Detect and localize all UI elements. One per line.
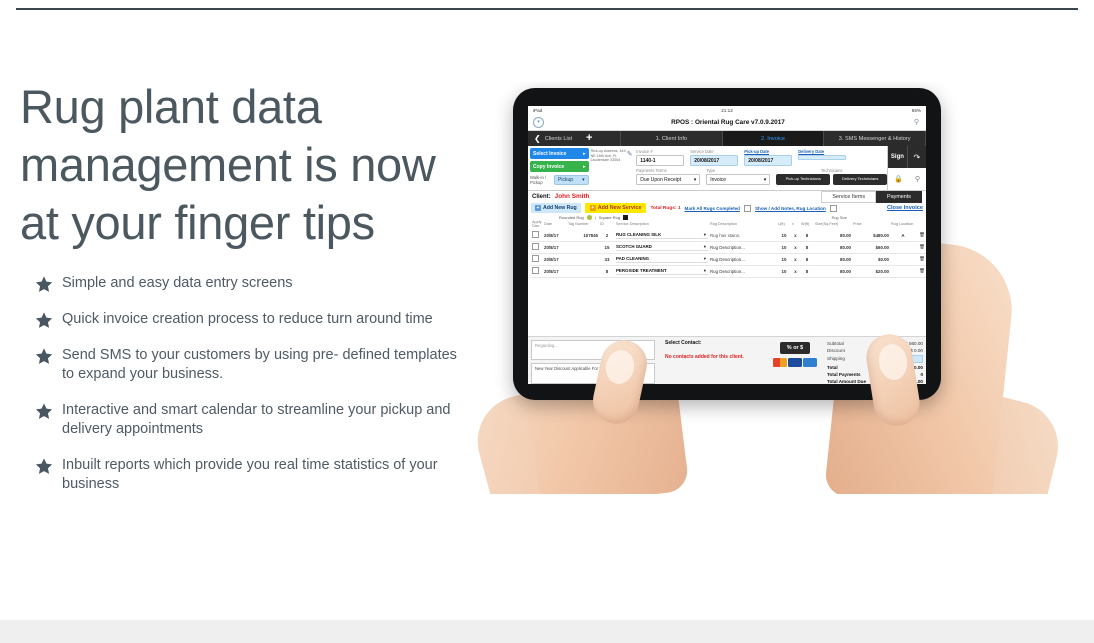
feature-text: Simple and easy data entry screens bbox=[62, 275, 293, 291]
row-service: SCOTCH GUARD bbox=[616, 244, 652, 250]
select-invoice-label: Select Invoice bbox=[533, 151, 566, 157]
row-service-select[interactable]: PAD CLEANING▾ bbox=[615, 253, 709, 265]
row-width[interactable]: 8 bbox=[800, 241, 814, 253]
export-icon[interactable]: ↷ bbox=[907, 146, 926, 168]
pickup-date-input[interactable]: 20/08/2017 bbox=[744, 155, 792, 166]
plus-icon[interactable]: + bbox=[586, 134, 592, 143]
items-table-head: Apply Disc. Date Tag Number ID Service D… bbox=[531, 220, 926, 230]
mark-all-completed-link[interactable]: Mark All Rugs Completed bbox=[685, 206, 740, 211]
tablet-photo: iPad 21:12 65% ▾ RPOS : Oriental Rug Car… bbox=[385, 82, 1085, 494]
row-service: PEROXIDE TREATMENT bbox=[616, 268, 667, 274]
delete-icon[interactable]: 🗑 bbox=[916, 265, 926, 277]
square-rug-icon[interactable] bbox=[623, 215, 628, 220]
chevron-down-icon: ▾ bbox=[764, 177, 767, 183]
invoice-number-field: Invoice # 1140-1 bbox=[636, 149, 684, 166]
client-label: Client: bbox=[532, 194, 551, 200]
chevron-down-icon: ▾ bbox=[704, 268, 706, 274]
th-length: L(ft) bbox=[777, 220, 791, 230]
total-payments-value: 0 bbox=[920, 372, 923, 377]
row-location[interactable] bbox=[890, 253, 916, 265]
row-tag bbox=[567, 265, 599, 277]
item-tabs: Service Items Payments bbox=[821, 191, 922, 203]
chevron-down-icon: ▾ bbox=[582, 177, 585, 183]
row-size: 80.00 bbox=[814, 241, 852, 253]
th-size: Size(Sq.Feet) bbox=[814, 220, 852, 230]
sign-export-column: Sign ↷ 🔒 ⚲ bbox=[887, 146, 926, 190]
type-value: Invoice bbox=[710, 177, 726, 183]
walkin-value: Pickup bbox=[558, 177, 573, 183]
row-length[interactable]: 10 bbox=[777, 241, 791, 253]
table-row[interactable]: 20/8/17 8 PEROXIDE TREATMENT▾ Rug Descri… bbox=[531, 265, 926, 277]
row-times: x bbox=[791, 265, 800, 277]
row-service-select[interactable]: SCOTCH GUARD▾ bbox=[615, 241, 709, 253]
row-service: PAD CLEANING bbox=[616, 256, 649, 262]
th-rug-description: Rug Description bbox=[709, 220, 777, 230]
add-new-service-button[interactable]: + Add New Service bbox=[585, 203, 647, 213]
app-title-bar: ▾ RPOS : Oriental Rug Care v7.0.9.2017 ⚲ bbox=[528, 115, 926, 131]
type-field: Type Invoice ▾ bbox=[706, 168, 770, 185]
payment-terms-label: Payments Terms bbox=[636, 168, 700, 173]
delivery-date-input[interactable] bbox=[798, 155, 846, 160]
subtotal-label: Subtotal bbox=[827, 341, 844, 346]
field-row-2: Payments Terms Due Upon Receipt ▾ Type I… bbox=[636, 168, 887, 185]
service-date-label: Service Date bbox=[690, 149, 738, 154]
key-icon[interactable]: ⚲ bbox=[915, 175, 920, 183]
copy-invoice-label: Copy Invoice bbox=[533, 164, 564, 170]
th-rug-location: Rug Location bbox=[890, 220, 916, 230]
page-root: Rug plant data management is now at your… bbox=[0, 0, 1094, 643]
chevron-right-icon: ▸ bbox=[583, 164, 586, 170]
chevron-down-icon: ▾ bbox=[704, 232, 706, 238]
payment-terms-value: Due Upon Receipt bbox=[640, 177, 681, 183]
row-checkbox[interactable] bbox=[531, 241, 543, 253]
add-new-rug-button[interactable]: + Add New Rug bbox=[531, 203, 581, 213]
card-icons bbox=[773, 358, 817, 367]
chevron-down-icon: ▾ bbox=[704, 256, 706, 262]
contacts-column: Select Contact: No contacts added for th… bbox=[659, 340, 763, 384]
chevron-down-icon: ▾ bbox=[694, 177, 697, 183]
total-payments-label: Total Payments bbox=[827, 372, 861, 377]
row-width[interactable]: 8 bbox=[800, 230, 814, 242]
tab-payments[interactable]: Payments bbox=[876, 191, 922, 203]
invoice-number-label: Invoice # bbox=[636, 149, 684, 154]
field-row-1: Invoice # 1140-1 Service Date 20/08/2017… bbox=[636, 149, 887, 166]
add-new-rug-label: Add New Rug bbox=[543, 205, 577, 211]
close-invoice-checkbox[interactable] bbox=[830, 205, 837, 212]
service-date-field: Service Date 20/08/2017 bbox=[690, 149, 738, 166]
star-icon bbox=[34, 311, 54, 330]
rounded-rug-label: Rounded Rug bbox=[559, 215, 584, 220]
walkin-select[interactable]: Pickup ▾ bbox=[554, 175, 589, 185]
footer-band bbox=[0, 620, 1094, 643]
row-date: 20/8/17 bbox=[543, 265, 567, 277]
row-price[interactable]: $0.00 bbox=[852, 253, 890, 265]
row-tag: 107845 bbox=[567, 230, 599, 242]
table-header-row: Apply Disc. Date Tag Number ID Service D… bbox=[531, 220, 926, 230]
square-rug-label: Square Rug bbox=[599, 215, 620, 220]
feature-text: Inbuilt reports which provide you real t… bbox=[62, 457, 438, 492]
tab-label: 1. Client Info bbox=[656, 136, 687, 142]
delivery-date-field: Delivery Date bbox=[798, 149, 846, 166]
row-location[interactable] bbox=[890, 241, 916, 253]
type-select[interactable]: Invoice ▾ bbox=[706, 174, 770, 185]
sign-row: Sign ↷ bbox=[888, 146, 926, 168]
star-icon bbox=[34, 402, 54, 421]
table-row[interactable]: 20/8/17 15 SCOTCH GUARD▾ Rug Description… bbox=[531, 241, 926, 253]
top-divider bbox=[16, 8, 1078, 10]
th-price: Price bbox=[852, 220, 890, 230]
row-size: 80.00 bbox=[814, 230, 852, 242]
delivery-date-label[interactable]: Delivery Date bbox=[798, 149, 846, 154]
row-times: x bbox=[791, 253, 800, 265]
table-row[interactable]: 20/8/17 107845 2 RUG CLEANING SILK▾ Rug … bbox=[531, 230, 926, 242]
payment-terms-select[interactable]: Due Upon Receipt ▾ bbox=[636, 174, 700, 185]
invoice-actions-row: + Add New Rug + Add New Service Total Ru… bbox=[528, 202, 926, 214]
star-icon bbox=[34, 347, 54, 366]
row-service: RUG CLEANING SILK bbox=[616, 232, 661, 238]
walkin-pickup-row: Walk-in / Pickup Pickup ▾ bbox=[530, 175, 589, 185]
row-id: 8 bbox=[599, 265, 615, 277]
tab-label: 3. SMS Messenger & History bbox=[839, 136, 911, 142]
amex-icon bbox=[803, 358, 817, 367]
row-checkbox[interactable] bbox=[531, 265, 543, 277]
th-date: Date bbox=[543, 220, 567, 230]
chevron-right-icon: ▸ bbox=[583, 151, 586, 157]
row-checkbox[interactable] bbox=[531, 230, 543, 242]
total-due-label: Total Amount Due bbox=[827, 379, 866, 384]
delete-icon[interactable]: 🗑 bbox=[916, 230, 926, 242]
row-price[interactable]: $60.00 bbox=[852, 241, 890, 253]
status-carrier: iPad bbox=[533, 108, 542, 113]
row-tag bbox=[567, 253, 599, 265]
row-location[interactable]: A bbox=[890, 230, 916, 242]
row-location[interactable] bbox=[890, 265, 916, 277]
percent-or-dollar-button[interactable]: % or $ bbox=[780, 342, 810, 354]
technician-buttons: Pick-up Technicians Delivery Technicians bbox=[776, 174, 887, 185]
chevron-down-icon: ▾ bbox=[704, 244, 706, 250]
row-width[interactable]: 8 bbox=[800, 265, 814, 277]
row-size: 80.00 bbox=[814, 253, 852, 265]
star-icon bbox=[34, 275, 54, 294]
row-date: 20/8/17 bbox=[543, 253, 567, 265]
tab-invoice[interactable]: 2. Invoice bbox=[723, 131, 825, 146]
th-id: ID bbox=[599, 220, 615, 230]
th-tag-number: Tag Number bbox=[567, 220, 599, 230]
app-title: RPOS : Oriental Rug Care v7.0.9.2017 bbox=[544, 119, 912, 126]
row-price[interactable]: $480.00 bbox=[852, 230, 890, 242]
add-new-service-label: Add New Service bbox=[598, 205, 642, 211]
type-label: Type bbox=[706, 168, 770, 173]
payment-column: % or $ bbox=[767, 340, 823, 384]
th-width: W(ft) bbox=[800, 220, 814, 230]
tablet-screen: iPad 21:12 65% ▾ RPOS : Oriental Rug Car… bbox=[528, 106, 926, 384]
row-times: x bbox=[791, 230, 800, 242]
close-invoice-link[interactable]: Close Invoice bbox=[887, 205, 923, 211]
row-size: 80.00 bbox=[814, 265, 852, 277]
th-apply-disc: Apply Disc. bbox=[531, 220, 543, 230]
client-name: John Smith bbox=[555, 193, 590, 200]
row-service-select[interactable]: PEROXIDE TREATMENT▾ bbox=[615, 265, 709, 277]
rounded-rug-icon[interactable] bbox=[587, 215, 592, 220]
tab-client-info[interactable]: 1. Client Info bbox=[621, 131, 723, 146]
mastercard-icon bbox=[773, 358, 787, 367]
row-date: 20/8/17 bbox=[543, 241, 567, 253]
tab-clients-list[interactable]: ❮ Clients List + bbox=[528, 131, 621, 146]
payment-terms-field: Payments Terms Due Upon Receipt ▾ bbox=[636, 168, 700, 185]
lock-key-row: 🔒 ⚲ bbox=[888, 168, 926, 190]
walkin-label: Walk-in / Pickup bbox=[530, 175, 552, 185]
row-id: 33 bbox=[599, 253, 615, 265]
row-date: 20/8/17 bbox=[543, 230, 567, 242]
feature-text: Quick invoice creation process to reduce… bbox=[62, 311, 433, 327]
plus-icon: + bbox=[590, 205, 596, 211]
technicians-field: Technicians Pick-up Technicians Delivery… bbox=[776, 168, 887, 185]
step-tabs: ❮ Clients List + 1. Client Info 2. Invoi… bbox=[528, 131, 926, 146]
pencil-icon[interactable]: ✎ bbox=[627, 146, 636, 190]
notes-checkbox[interactable] bbox=[744, 205, 751, 212]
row-id: 15 bbox=[599, 241, 615, 253]
row-tag bbox=[567, 241, 599, 253]
ios-status-bar: iPad 21:12 65% bbox=[528, 106, 926, 115]
table-empty-space bbox=[528, 278, 926, 336]
delete-icon[interactable]: 🗑 bbox=[916, 241, 926, 253]
row-rug-description[interactable]: Rug Description... bbox=[709, 241, 777, 253]
technicians-label: Technicians bbox=[776, 168, 887, 173]
tab-label: 2. Invoice bbox=[761, 136, 785, 142]
star-icon bbox=[34, 457, 54, 476]
row-price[interactable]: $20.00 bbox=[852, 265, 890, 277]
no-contacts-message: No contacts added for this client. bbox=[665, 354, 763, 360]
pickup-date-field: Pick-up Date 20/08/2017 bbox=[744, 149, 792, 166]
copy-invoice-button[interactable]: Copy Invoice ▸ bbox=[530, 161, 589, 172]
status-battery: 65% bbox=[912, 108, 921, 113]
items-table-body: 20/8/17 107845 2 RUG CLEANING SILK▾ Rug … bbox=[531, 230, 926, 278]
pickup-address: Rick-up Address, 444 NE 16th Ave, Ft. La… bbox=[591, 146, 627, 190]
row-rug-description[interactable]: Rug has stains. bbox=[709, 230, 777, 242]
client-row: Client: John Smith Service Items Payment… bbox=[528, 191, 926, 202]
rug-size-group-header: Rug Size bbox=[832, 216, 847, 220]
th-delete bbox=[916, 220, 926, 230]
discount-value: $ 0.00 bbox=[910, 348, 923, 353]
total-rugs-count: Total Rugs: 1 bbox=[650, 206, 680, 211]
search-icon[interactable]: ⚲ bbox=[912, 118, 921, 127]
discount-label: Discount bbox=[827, 348, 845, 353]
table-row[interactable]: 20/8/17 33 PAD CLEANING▾ Rug Description… bbox=[531, 253, 926, 265]
invoice-fields: Invoice # 1140-1 Service Date 20/08/2017… bbox=[636, 146, 887, 190]
row-length[interactable]: 10 bbox=[777, 265, 791, 277]
shipping-label: Shipping bbox=[827, 356, 845, 361]
show-add-notes-link[interactable]: Show / Add Notes, Rug Location bbox=[755, 206, 826, 211]
invoice-number-input[interactable]: 1140-1 bbox=[636, 155, 684, 166]
items-table: Apply Disc. Date Tag Number ID Service D… bbox=[531, 220, 926, 278]
visa-icon bbox=[788, 358, 802, 367]
row-checkbox[interactable] bbox=[531, 253, 543, 265]
sign-button[interactable]: Sign bbox=[888, 146, 906, 168]
row-length[interactable]: 10 bbox=[777, 230, 791, 242]
select-invoice-button[interactable]: Select Invoice ▸ bbox=[530, 148, 589, 159]
select-contact-label: Select Contact: bbox=[665, 340, 763, 346]
row-rug-description[interactable]: Rug Description... bbox=[709, 253, 777, 265]
row-id: 2 bbox=[599, 230, 615, 242]
delete-icon[interactable]: 🗑 bbox=[916, 253, 926, 265]
plus-icon: + bbox=[535, 205, 541, 211]
back-chevron-icon: ❮ bbox=[534, 134, 541, 143]
tab-service-items[interactable]: Service Items bbox=[821, 191, 876, 203]
tab-sms-messenger[interactable]: 3. SMS Messenger & History bbox=[824, 131, 926, 146]
service-date-input[interactable]: 20/08/2017 bbox=[690, 155, 738, 166]
total-label: Total bbox=[827, 365, 838, 370]
status-time: 21:12 bbox=[542, 108, 912, 113]
invoice-action-buttons: Select Invoice ▸ Copy Invoice ▸ Walk-in … bbox=[528, 146, 591, 190]
delivery-technicians-button[interactable]: Delivery Technicians bbox=[833, 174, 887, 185]
row-times: x bbox=[791, 241, 800, 253]
service-items-table: Rounded Rug | Square Rug Rug Size Apply … bbox=[528, 214, 926, 278]
th-service-description: Service Description bbox=[615, 220, 709, 230]
row-rug-description[interactable]: Rug Description... bbox=[709, 265, 777, 277]
th-times: x bbox=[791, 220, 800, 230]
lock-icon[interactable]: 🔒 bbox=[894, 175, 903, 183]
row-length[interactable]: 10 bbox=[777, 253, 791, 265]
clients-list-label: Clients List bbox=[545, 136, 572, 142]
chevron-circle-icon[interactable]: ▾ bbox=[533, 117, 544, 128]
row-width[interactable]: 8 bbox=[800, 253, 814, 265]
row-service-select[interactable]: RUG CLEANING SILK▾ bbox=[615, 230, 709, 242]
pickup-technicians-button[interactable]: Pick-up Technicians bbox=[776, 174, 830, 185]
invoice-form-strip: Select Invoice ▸ Copy Invoice ▸ Walk-in … bbox=[528, 146, 926, 191]
pickup-date-label[interactable]: Pick-up Date bbox=[744, 149, 792, 154]
